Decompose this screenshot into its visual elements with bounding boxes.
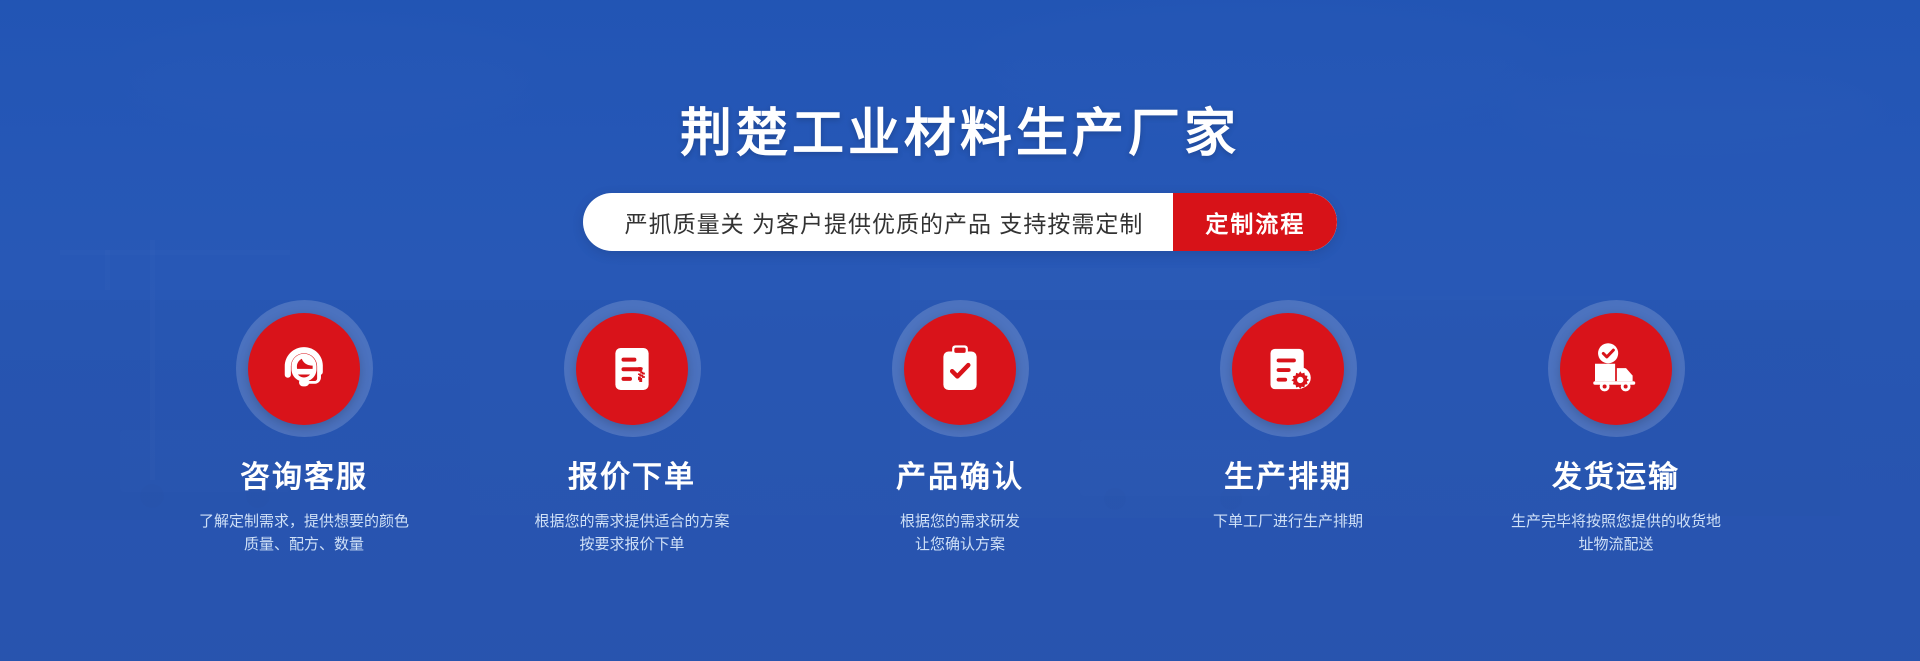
step-icon-ring xyxy=(564,300,701,437)
step-title: 发货运输 xyxy=(1552,463,1680,493)
step-description-line: 了解定制需求，提供想要的颜色 xyxy=(199,510,409,533)
step-description-line: 按要求报价下单 xyxy=(534,533,729,556)
step-title: 产品确认 xyxy=(896,463,1024,493)
step-title: 咨询客服 xyxy=(240,463,368,493)
process-step-schedule[interactable]: 生产排期 下单工厂进行生产排期 xyxy=(1153,300,1423,533)
process-step-confirm[interactable]: 产品确认 根据您的需求研发 让您确认方案 xyxy=(825,300,1095,557)
clipboard-check-icon xyxy=(932,341,988,397)
step-description-line: 址物流配送 xyxy=(1511,533,1721,556)
step-description-line: 根据您的需求提供适合的方案 xyxy=(534,510,729,533)
step-icon-ring xyxy=(892,300,1029,437)
step-description: 下单工厂进行生产排期 xyxy=(1213,510,1363,533)
process-step-consult[interactable]: 咨询客服 了解定制需求，提供想要的颜色 质量、配方、数量 xyxy=(169,300,439,557)
document-gear-icon xyxy=(1260,341,1316,397)
highlight-bar: 严抓质量关 为客户提供优质的产品 支持按需定制 定制流程 xyxy=(0,193,1920,251)
step-description-line: 让您确认方案 xyxy=(900,533,1020,556)
custom-process-button[interactable]: 定制流程 xyxy=(1173,193,1337,251)
step-description: 生产完毕将按照您提供的收货地 址物流配送 xyxy=(1511,510,1721,557)
step-description: 了解定制需求，提供想要的颜色 质量、配方、数量 xyxy=(199,510,409,557)
step-icon-ring xyxy=(1548,300,1685,437)
step-icon-disc xyxy=(248,313,360,425)
step-description-line: 下单工厂进行生产排期 xyxy=(1213,510,1363,533)
process-step-quote[interactable]: 报价下单 根据您的需求提供适合的方案 按要求报价下单 xyxy=(497,300,767,557)
step-description-line: 生产完毕将按照您提供的收货地 xyxy=(1511,510,1721,533)
step-icon-disc xyxy=(1560,313,1672,425)
highlight-pill: 严抓质量关 为客户提供优质的产品 支持按需定制 定制流程 xyxy=(583,193,1338,251)
step-icon-disc xyxy=(576,313,688,425)
promo-banner: 荆楚工业材料生产厂家 严抓质量关 为客户提供优质的产品 支持按需定制 定制流程 xyxy=(0,0,1920,661)
step-description-line: 根据您的需求研发 xyxy=(900,510,1020,533)
step-description-line: 质量、配方、数量 xyxy=(199,533,409,556)
step-icon-disc xyxy=(904,313,1016,425)
process-steps: 咨询客服 了解定制需求，提供想要的颜色 质量、配方、数量 xyxy=(0,300,1920,557)
page-title: 荆楚工业材料生产厂家 xyxy=(0,108,1920,160)
step-description: 根据您的需求研发 让您确认方案 xyxy=(900,510,1020,557)
step-icon-ring xyxy=(236,300,373,437)
step-icon-disc xyxy=(1232,313,1344,425)
highlight-text: 严抓质量关 为客户提供优质的产品 支持按需定制 xyxy=(583,193,1174,251)
step-title: 生产排期 xyxy=(1224,463,1352,493)
headset-support-icon xyxy=(276,341,332,397)
delivery-truck-icon xyxy=(1588,341,1644,397)
step-title: 报价下单 xyxy=(568,463,696,493)
step-description: 根据您的需求提供适合的方案 按要求报价下单 xyxy=(534,510,729,557)
step-icon-ring xyxy=(1220,300,1357,437)
process-step-delivery[interactable]: 发货运输 生产完毕将按照您提供的收货地 址物流配送 xyxy=(1481,300,1751,557)
invoice-yuan-icon xyxy=(604,341,660,397)
